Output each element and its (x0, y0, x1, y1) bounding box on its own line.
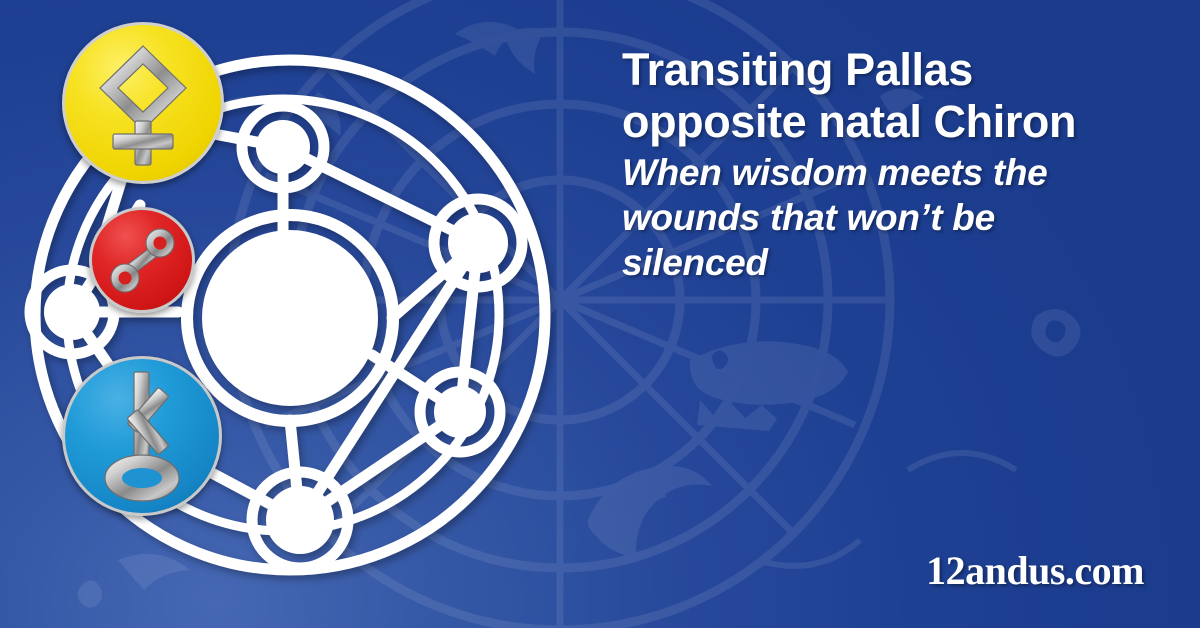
promo-banner: Transiting Pallas opposite natal Chiron … (0, 0, 1200, 628)
subhead-line-2: wounds that won’t be (622, 197, 995, 238)
headline-line-2: opposite natal Chiron (622, 96, 1076, 147)
opposition-aspect-badge (89, 207, 195, 313)
headline-line-1: Transiting Pallas (622, 44, 973, 95)
pallas-glyph-icon (62, 22, 224, 184)
page-title: Transiting Pallas opposite natal Chiron (622, 44, 1168, 148)
brand-wordmark: 12andus.com (926, 547, 1144, 594)
text-column: Transiting Pallas opposite natal Chiron … (622, 44, 1168, 285)
pallas-badge (62, 22, 224, 184)
page-subtitle: When wisdom meets the wounds that won’t … (622, 150, 1168, 285)
opposition-aspect-icon (89, 207, 195, 313)
subhead-line-3: silenced (622, 242, 768, 283)
chiron-glyph-icon (62, 356, 222, 516)
subhead-line-1: When wisdom meets the (622, 152, 1047, 193)
chiron-badge (62, 356, 222, 516)
